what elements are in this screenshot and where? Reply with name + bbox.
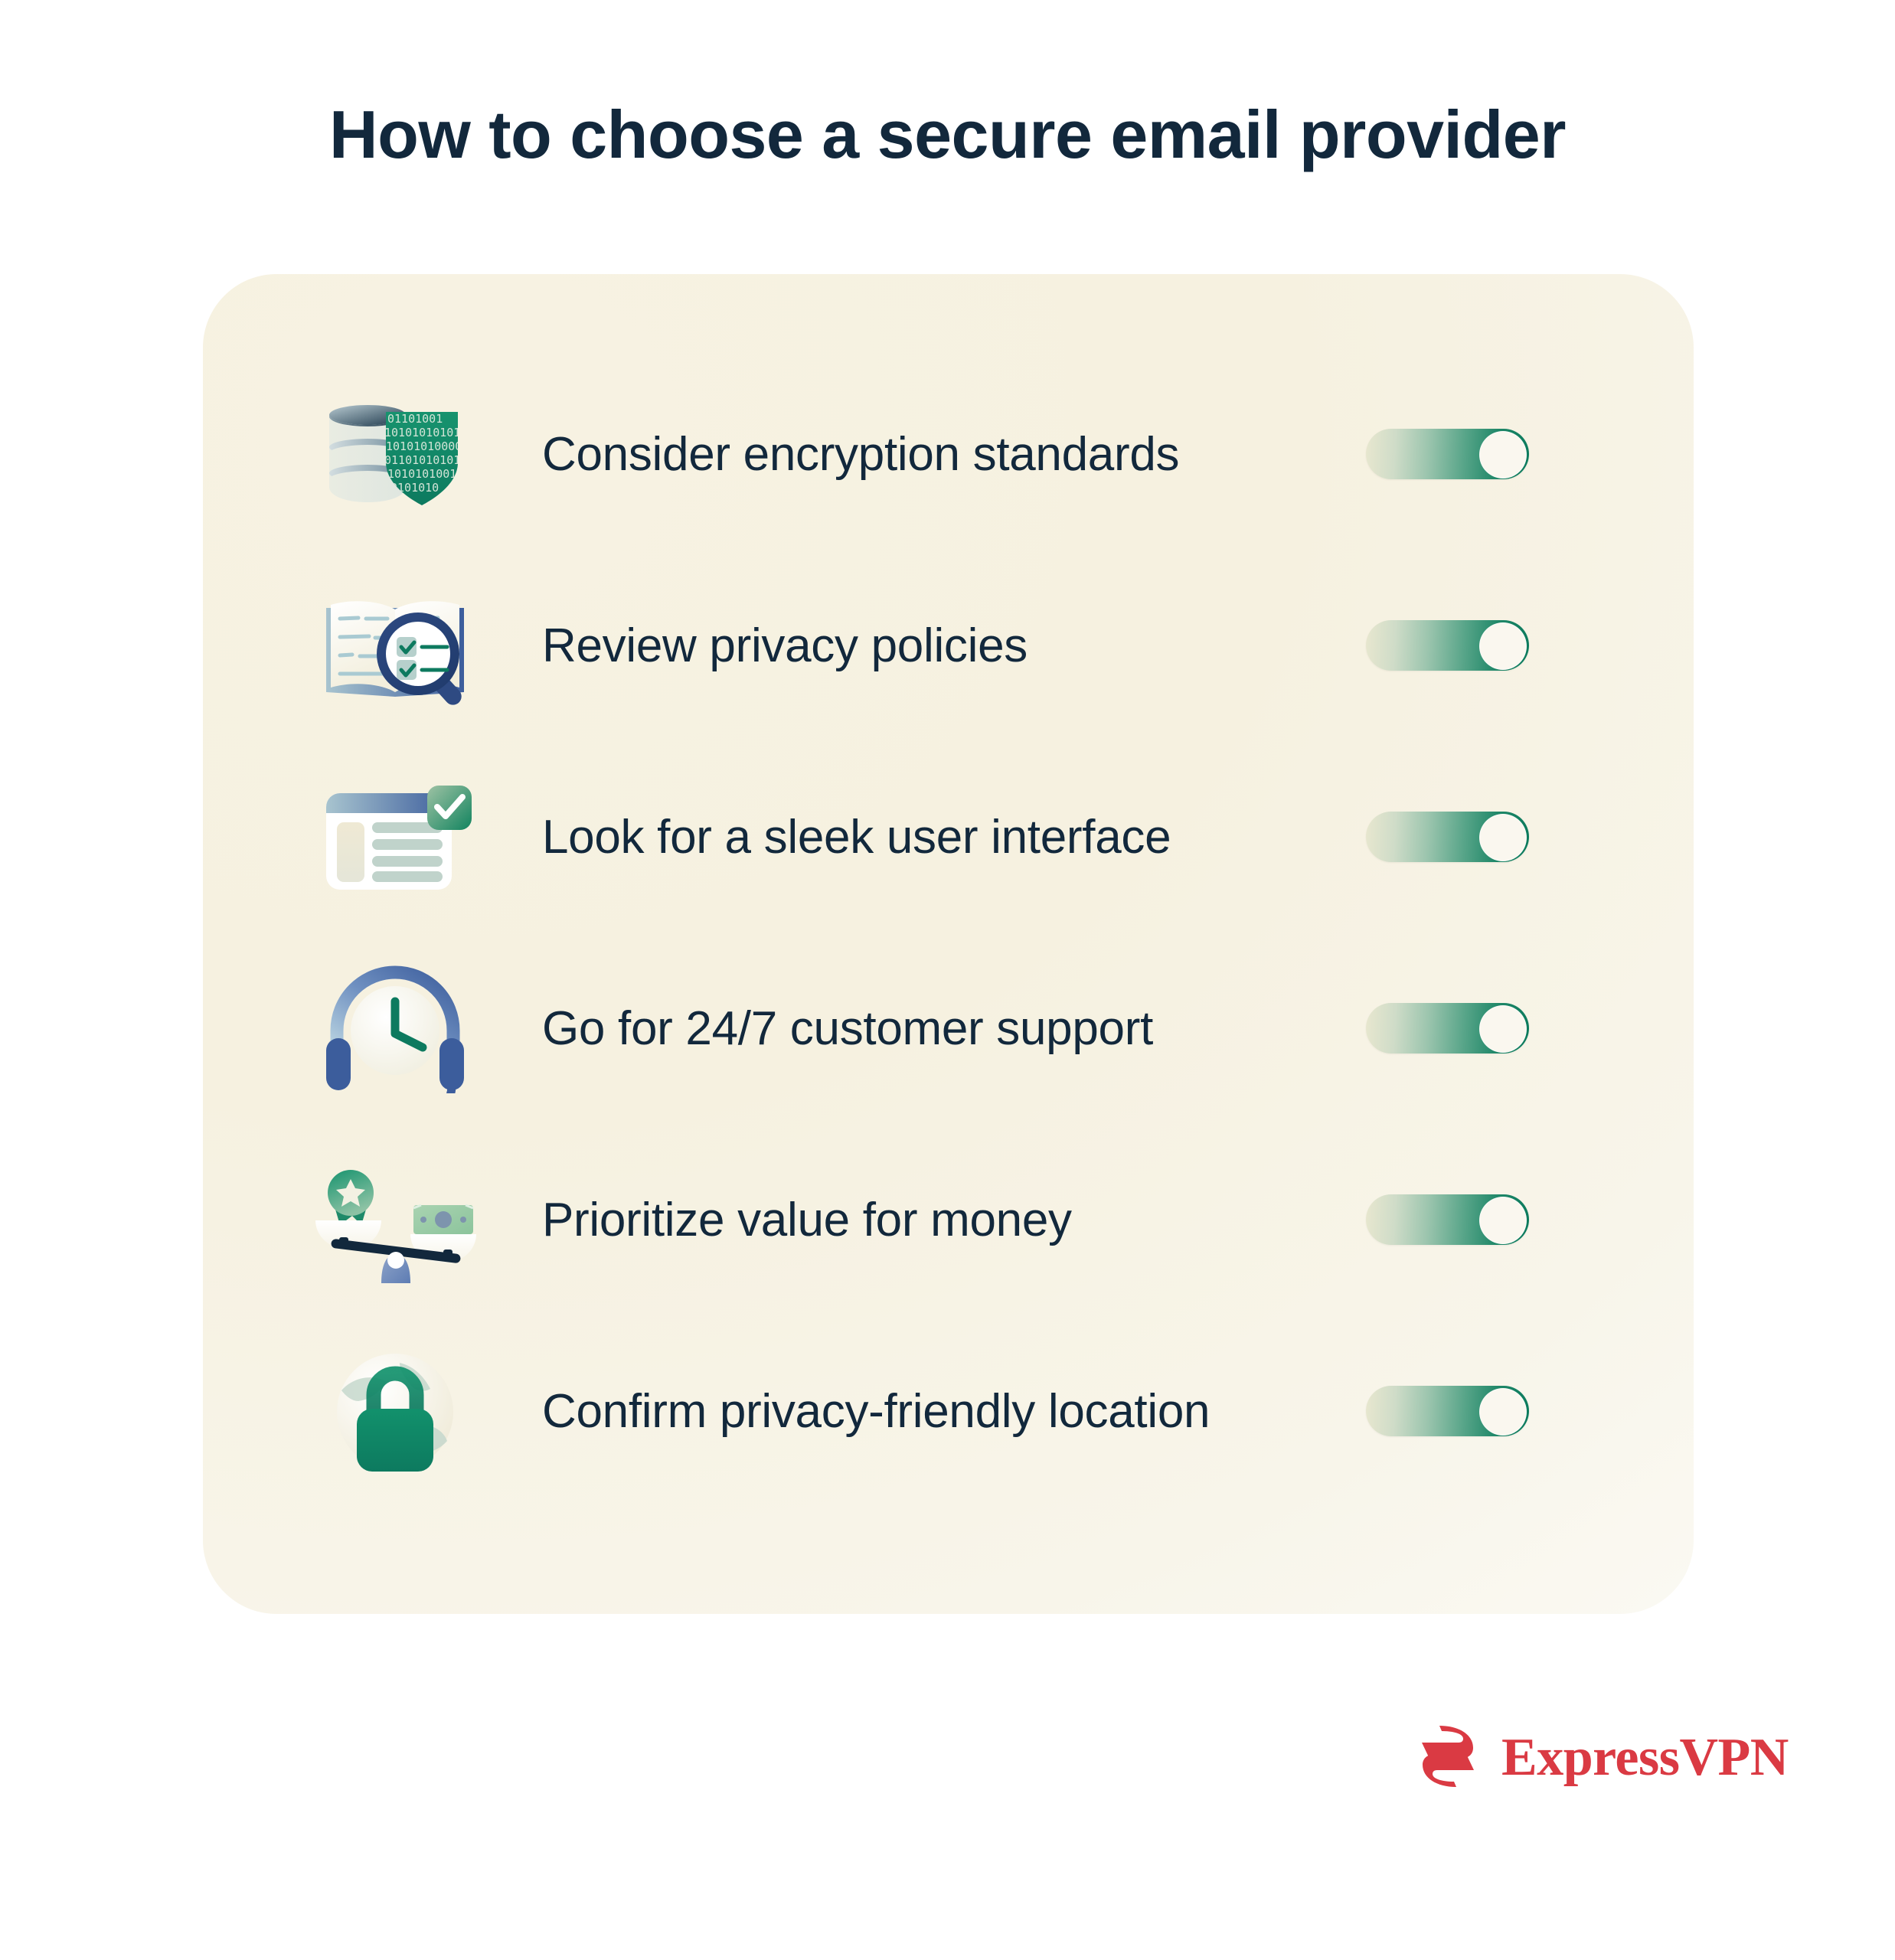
list-item[interactable]: 01101001 101010101010 101010100001 01101… — [203, 389, 1694, 519]
toggle-consider-encryption-standards[interactable] — [1366, 429, 1529, 479]
database-shield-binary-icon: 01101001 101010101010 101010100001 01101… — [308, 389, 484, 519]
toggle-24-7-customer-support[interactable] — [1366, 1003, 1529, 1053]
list-item[interactable]: Prioritize value for money — [203, 1155, 1694, 1285]
expressvpn-e-logo-icon — [1411, 1723, 1485, 1794]
list-item-label: Consider encryption standards — [542, 389, 1179, 519]
svg-text:01101001: 01101001 — [387, 412, 443, 426]
window-mockup-check-badge-icon — [308, 772, 484, 902]
balance-scale-award-money-icon — [308, 1155, 484, 1285]
toggle-knob — [1479, 1005, 1527, 1053]
list-item-label: Look for a sleek user interface — [542, 772, 1171, 902]
toggle-knob — [1479, 1388, 1527, 1436]
expressvpn-logo: ExpressVPN — [1411, 1721, 1733, 1795]
list-item[interactable]: Look for a sleek user interface — [203, 772, 1694, 902]
list-item-label: Review privacy policies — [542, 580, 1028, 710]
svg-text:011010101010: 011010101010 — [384, 453, 467, 467]
toggle-knob — [1479, 622, 1527, 670]
list-item-label: Go for 24/7 customer support — [542, 963, 1153, 1093]
toggle-knob — [1479, 1197, 1527, 1244]
checklist-card: 01101001 101010101010 101010100001 01101… — [203, 274, 1694, 1614]
toggle-look-for-sleek-user-interface[interactable] — [1366, 812, 1529, 862]
svg-text:101010100001: 101010100001 — [386, 439, 469, 453]
toggle-review-privacy-policies[interactable] — [1366, 620, 1529, 671]
list-item[interactable]: Review privacy policies — [203, 580, 1694, 710]
list-item[interactable]: Go for 24/7 customer support — [203, 963, 1694, 1093]
toggle-knob — [1479, 814, 1527, 861]
expressvpn-wordmark: ExpressVPN — [1501, 1731, 1789, 1785]
svg-text:10101010011: 10101010011 — [387, 467, 463, 481]
globe-padlock-icon — [308, 1346, 484, 1476]
list-item-label: Prioritize value for money — [542, 1155, 1072, 1285]
headset-clock-icon — [308, 963, 484, 1093]
toggle-prioritize-value-for-money[interactable] — [1366, 1194, 1529, 1245]
svg-text:101010101010: 101010101010 — [384, 426, 467, 439]
toggle-knob — [1479, 431, 1527, 479]
list-item[interactable]: Confirm privacy-friendly location — [203, 1346, 1694, 1476]
toggle-confirm-privacy-friendly-location[interactable] — [1366, 1386, 1529, 1436]
page-title: How to choose a secure email provider — [0, 98, 1895, 172]
checklist-rows: 01101001 101010101010 101010100001 01101… — [203, 274, 1694, 1614]
list-item-label: Confirm privacy-friendly location — [542, 1346, 1210, 1476]
book-magnifier-checklist-icon — [308, 580, 484, 710]
